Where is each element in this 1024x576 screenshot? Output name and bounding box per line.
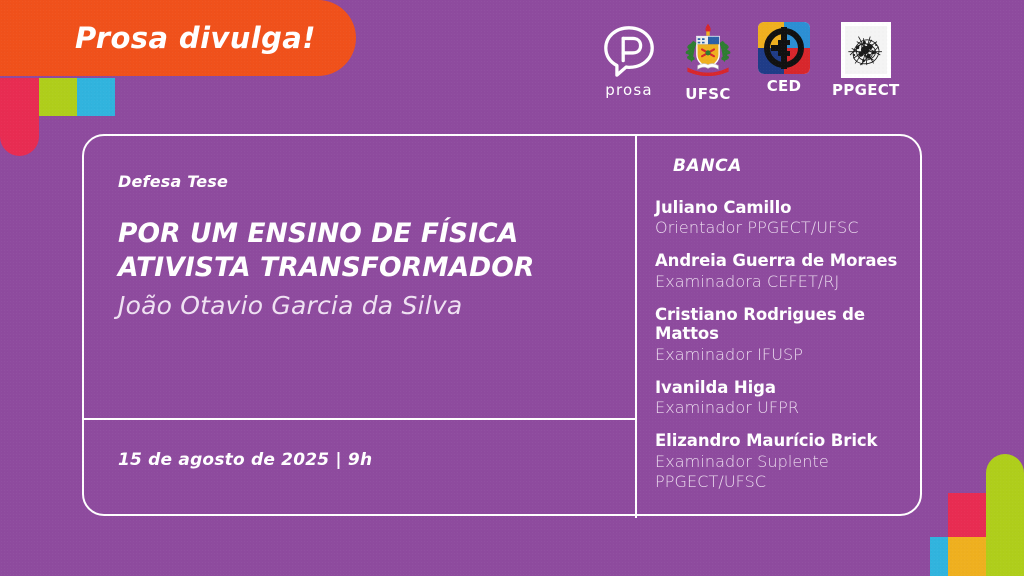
logo-row: prosa [600,22,945,112]
banca-list: Juliano Camillo Orientador PPGECT/UFSC A… [655,198,912,492]
deco-block-crimson [0,78,39,156]
ppgect-logo-caption: PPGECT [832,81,900,99]
prosa-logo[interactable]: prosa [600,22,658,99]
banca-member: Ivanilda Higa Examinador UFPR [655,378,912,418]
banner-pill: Prosa divulga! [0,0,356,76]
deco-block-green [39,78,77,116]
banca-member-role: Orientador PPGECT/UFSC [655,218,912,238]
banner-title: Prosa divulga! [75,21,316,55]
date-panel: 15 de agosto de 2025 | 9h [84,420,635,518]
deco-block-blue [930,537,948,576]
banca-member: Elizandro Maurício Brick Examinador Supl… [655,431,912,491]
banca-member: Juliano Camillo Orientador PPGECT/UFSC [655,198,912,238]
banca-member-name: Juliano Camillo [655,198,912,217]
ufsc-logo-caption: UFSC [685,85,730,103]
banca-member-name: Cristiano Rodrigues de Mattos [655,305,912,344]
banca-member-role: Examinador UFPR [655,398,912,418]
banca-member-role: Examinadora CEFET/RJ [655,272,912,292]
banca-panel: BANCA Juliano Camillo Orientador PPGECT/… [637,136,924,518]
deco-block-yellow [948,537,986,576]
bottom-right-decoration [930,440,1024,576]
banca-member-role: Examinador Suplente PPGECT/UFSC [655,452,912,492]
ufsc-crest-icon [680,22,736,82]
banca-member-name: Andreia Guerra de Moraes [655,251,912,270]
banca-member-role: Examinador IFUSP [655,345,912,365]
deco-block-crimson [948,493,986,537]
ced-mark-icon [758,22,810,74]
event-card: Defesa Tese POR UM ENSINO DE FÍSICA ATIV… [82,134,922,516]
ced-logo-caption: CED [767,77,802,95]
banca-member-name: Elizandro Maurício Brick [655,431,912,450]
deco-block-blue [77,78,115,116]
thesis-title: POR UM ENSINO DE FÍSICA ATIVISTA TRANSFO… [118,217,588,284]
thesis-info-panel: Defesa Tese POR UM ENSINO DE FÍSICA ATIV… [84,136,635,418]
deco-block-green [986,454,1024,576]
banca-member: Andreia Guerra de Moraes Examinadora CEF… [655,251,912,291]
event-type-label: Defesa Tese [118,172,605,191]
banca-member: Cristiano Rodrigues de Mattos Examinador… [655,305,912,365]
prosa-logo-caption: prosa [605,81,653,99]
speech-bubble-p-icon [600,22,658,80]
event-datetime: 15 de agosto de 2025 | 9h [118,450,635,470]
poster-stage: Prosa divulga! prosa [0,0,1024,576]
ced-logo[interactable]: CED [758,22,810,95]
ufsc-logo[interactable]: UFSC [680,22,736,103]
banca-member-name: Ivanilda Higa [655,378,912,397]
banca-heading: BANCA [673,156,912,176]
ppgect-mark-icon [841,22,891,78]
ppgect-logo[interactable]: PPGECT [832,22,900,99]
author-name: João Otavio Garcia da Silva [118,291,605,320]
